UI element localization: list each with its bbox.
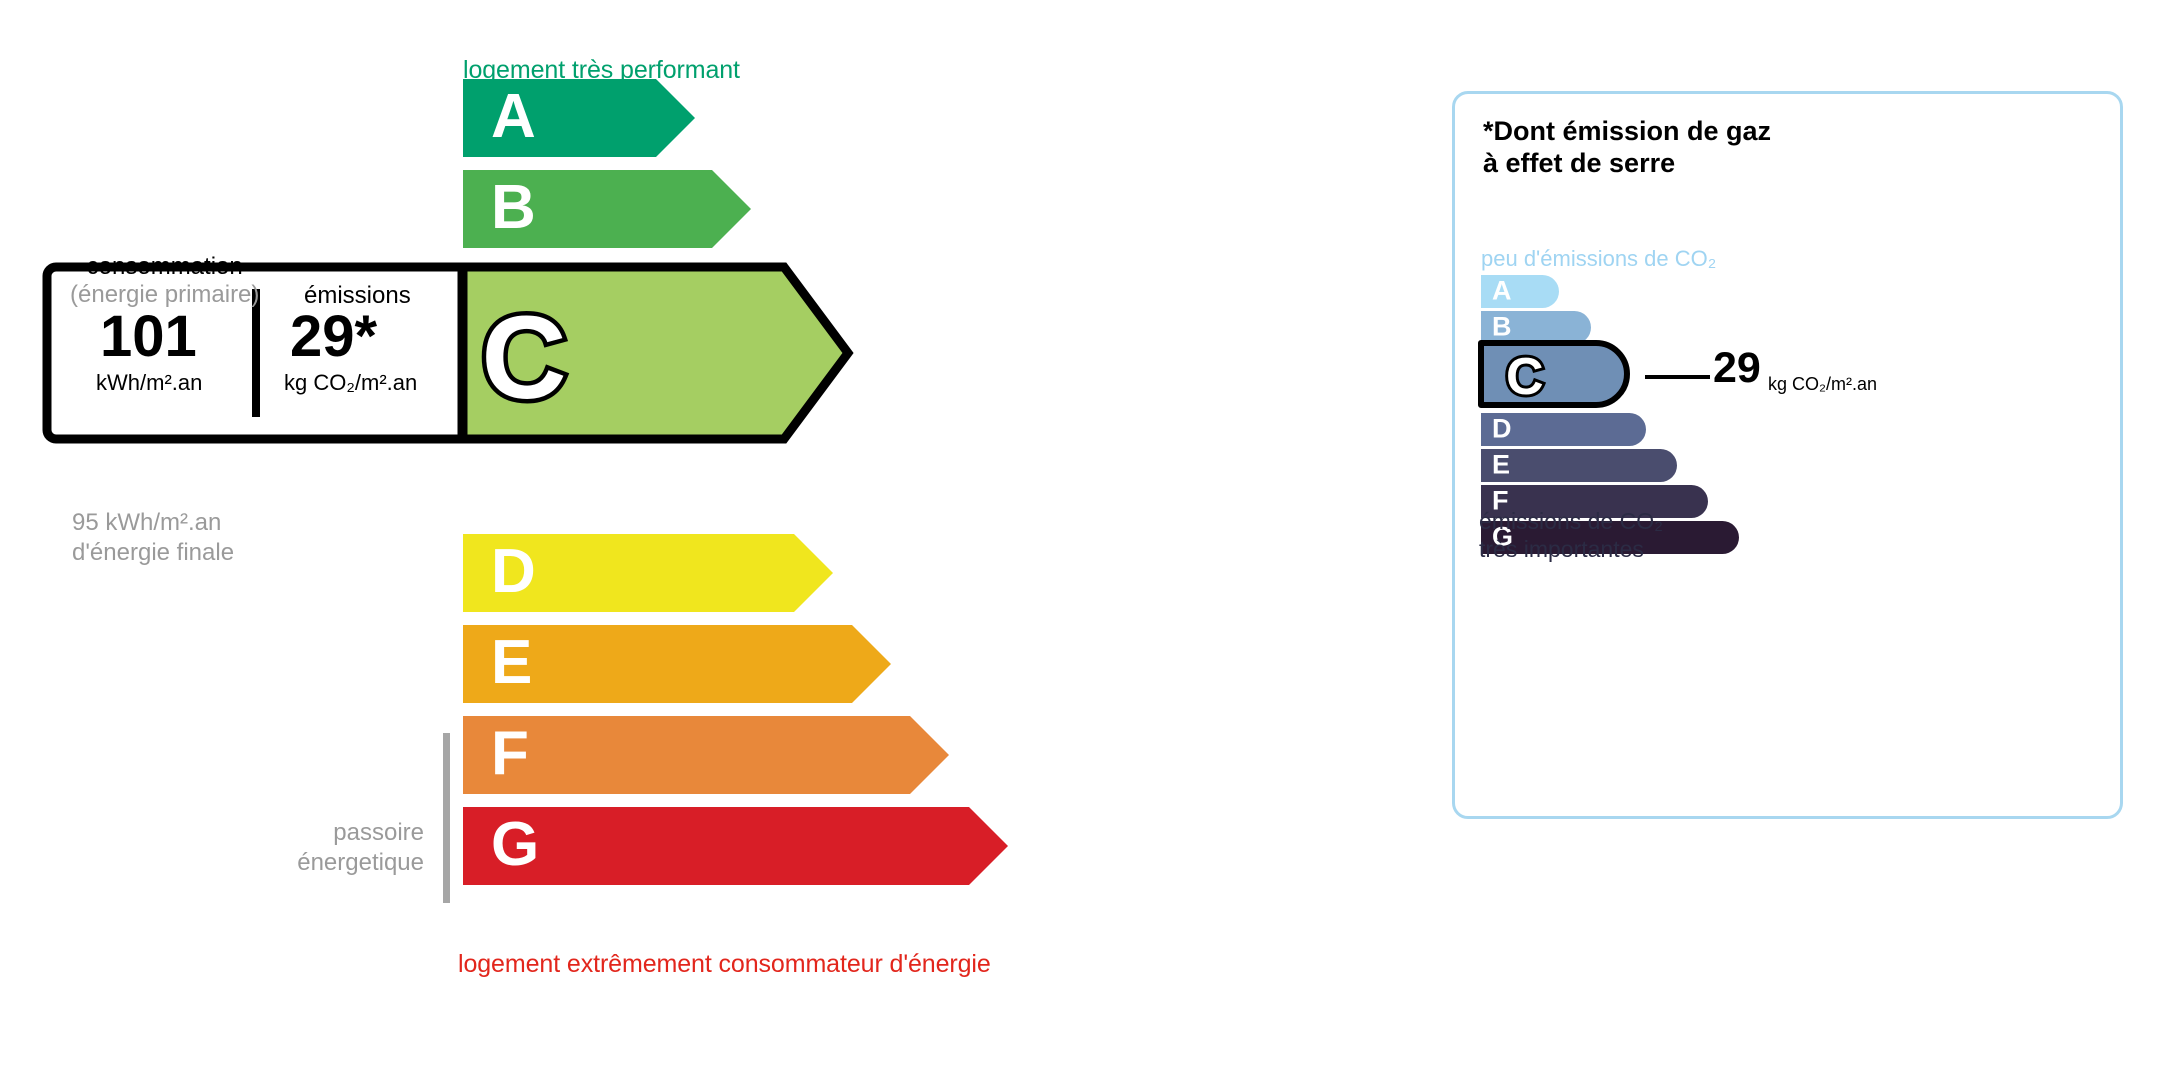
energy-performance-scale: logement très performant A B C con — [0, 0, 1420, 1079]
co2-bar-d-letter: D — [1492, 415, 1512, 442]
energy-bar-b: B — [463, 170, 751, 248]
svg-text:C: C — [1506, 348, 1544, 406]
energy-bar-g-head — [969, 807, 1008, 885]
passoire-label: passoire énergetique — [244, 818, 424, 878]
scale-bottom-caption: logement extrêmement consommateur d'éner… — [458, 950, 991, 979]
co2-bar-b-letter: B — [1492, 313, 1512, 340]
consumption-value: 101 — [100, 308, 197, 366]
energy-bar-b-head — [712, 170, 751, 248]
co2-bar-e-letter: E — [1492, 451, 1510, 478]
consumption-unit: kWh/m².an — [96, 372, 202, 394]
co2-bottom-caption-line2: très importantes — [1479, 536, 1644, 562]
co2-emissions-panel: *Dont émission de gaz à effet de serre p… — [1452, 91, 2123, 819]
svg-text:C: C — [481, 292, 566, 424]
co2-leader-line — [1645, 375, 1710, 379]
passoire-bracket — [443, 733, 450, 903]
energy-bar-d: D — [463, 534, 833, 612]
co2-panel-title: *Dont émission de gaz à effet de serre — [1483, 116, 1771, 180]
final-energy-value: 95 kWh/m².an — [72, 509, 221, 536]
energy-bar-e-letter: E — [491, 632, 532, 694]
energy-bar-b-letter: B — [491, 177, 536, 239]
co2-value: 29 — [1713, 347, 1761, 390]
energy-bar-f: F — [463, 716, 949, 794]
energy-bar-d-head — [794, 534, 833, 612]
co2-panel-title-line2: à effet de serre — [1483, 148, 1675, 178]
energy-bar-a: A — [463, 79, 695, 157]
co2-highlighted-class-c: C — [1477, 339, 1637, 409]
emission-unit: kg CO₂/m².an — [284, 372, 417, 394]
co2-bar-a-letter: A — [1492, 277, 1512, 304]
energy-bar-g: G — [463, 807, 1008, 885]
co2-class-c-shape: C — [1477, 339, 1637, 409]
energy-bar-e-head — [852, 625, 891, 703]
consumption-header-main: consommation — [87, 253, 243, 280]
final-energy-label: d'énergie finale — [72, 539, 234, 566]
co2-bar-a: A — [1481, 275, 1559, 308]
co2-top-caption: peu d'émissions de CO₂ — [1481, 246, 1716, 272]
emission-value: 29* — [290, 308, 377, 366]
co2-value-unit: kg CO₂/m².an — [1768, 375, 1877, 393]
consumption-header: consommation (énergie primaire) — [70, 253, 259, 310]
co2-bottom-caption-line1: émissions de CO₂ — [1479, 508, 1663, 534]
co2-bottom-caption: émissions de CO₂ très importantes — [1479, 507, 1663, 563]
final-energy-note: 95 kWh/m².an d'énergie finale — [72, 508, 234, 568]
energy-bar-f-body — [463, 716, 910, 794]
energy-bar-e: E — [463, 625, 891, 703]
energy-bar-f-letter: F — [491, 723, 529, 785]
energy-bar-g-letter: G — [491, 814, 539, 876]
passoire-label-line2: énergetique — [297, 849, 424, 876]
energy-bar-d-letter: D — [491, 541, 536, 603]
energy-bar-f-head — [910, 716, 949, 794]
passoire-label-line1: passoire — [333, 819, 424, 846]
energy-bar-a-head — [656, 79, 695, 157]
energy-bar-a-letter: A — [491, 86, 536, 148]
co2-bar-e: E — [1481, 449, 1677, 482]
co2-panel-title-line1: *Dont émission de gaz — [1483, 116, 1771, 146]
co2-bar-d: D — [1481, 413, 1646, 446]
